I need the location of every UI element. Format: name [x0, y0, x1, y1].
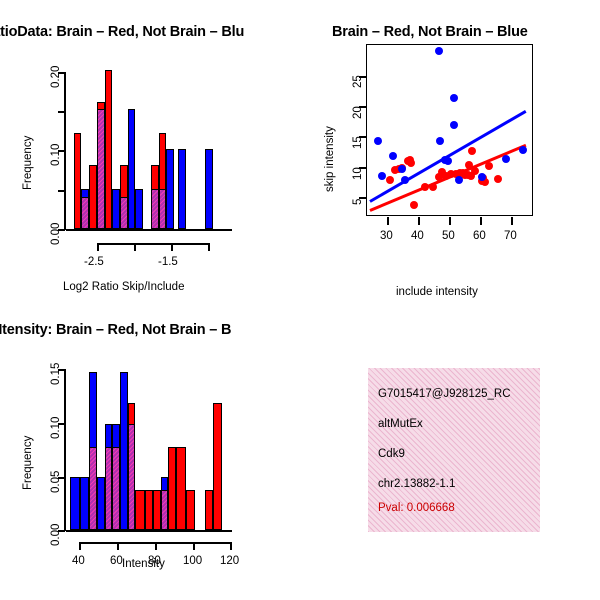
- scatter-point-blue: [389, 152, 397, 160]
- info-pvalue: Pval: 0.006668: [378, 502, 455, 514]
- histogram-bar-red: [74, 133, 82, 229]
- scatter-point-red: [485, 162, 493, 170]
- info-event-type: altMutEx: [378, 418, 423, 430]
- scatter-point-blue: [450, 94, 458, 102]
- histogram-bar-blue: [178, 149, 186, 229]
- histogram-bar-red: [176, 447, 186, 530]
- scatter-point-red: [407, 159, 415, 167]
- ratio-ytick-0.05: [58, 190, 65, 192]
- intensity-xticklabel-120: 120: [220, 555, 239, 567]
- scatter-xticklabel-50: 50: [442, 230, 455, 242]
- intensity-xtick-80: [155, 542, 157, 550]
- scatter-point-red: [494, 175, 502, 183]
- intensity-histogram-title: ne Itensity: Brain – Red, Not Brain – B: [0, 322, 231, 338]
- histogram-bar-red: [186, 490, 196, 530]
- intensity-yticklabel-0.15: 0.15: [50, 363, 62, 385]
- intensity-xticklabel-40: 40: [72, 555, 85, 567]
- ratio-yticklabel-0.00: 0.00: [50, 223, 62, 245]
- scatter-plot-area: [367, 45, 532, 215]
- histogram-bar-overlap: [128, 424, 136, 530]
- histogram-bar-blue: [135, 189, 143, 229]
- histogram-bar-blue: [80, 477, 90, 530]
- intensity-xticklabel-60: 60: [110, 555, 123, 567]
- scatter-point-red: [468, 147, 476, 155]
- scatter-point-blue: [374, 137, 382, 145]
- histogram-bar-red: [168, 447, 176, 530]
- ratio-histogram-title: RatioData: Brain – Red, Not Brain – Blu: [0, 24, 244, 40]
- ratio-xtick-minus2.5: [97, 243, 99, 251]
- histogram-bar-red: [135, 490, 145, 530]
- scatter-point-blue: [519, 146, 527, 154]
- scatter-xtick-70: [511, 217, 513, 225]
- histogram-bar-blue: [70, 477, 80, 530]
- scatter-point-blue: [436, 137, 444, 145]
- scatter-point-blue: [455, 176, 463, 184]
- histogram-bar-red: [213, 403, 223, 530]
- scatter-xticklabel-60: 60: [473, 230, 486, 242]
- histogram-bar-blue: [128, 109, 136, 229]
- info-locus: chr2.13882-1.1: [378, 478, 455, 490]
- intensity-yticklabel-0.00: 0.00: [50, 524, 62, 546]
- scatter-yticklabel-10: 10: [352, 167, 364, 180]
- ratio-xtick-minus1.0: [208, 243, 210, 251]
- ratio-baseline: [66, 229, 232, 231]
- scatter-xlabel: include intensity: [396, 286, 478, 298]
- scatter-point-blue: [450, 121, 458, 129]
- histogram-bar-overlap: [105, 447, 113, 530]
- scatter-point-blue: [478, 173, 486, 181]
- scatter-xticklabel-70: 70: [504, 230, 517, 242]
- intensity-xtick-40: [79, 542, 81, 550]
- intensity-histogram-ylabel: Frequency: [22, 436, 34, 490]
- scatter-point-blue: [398, 165, 406, 173]
- histogram-bar-red: [153, 490, 161, 530]
- histogram-bar-overlap: [97, 109, 105, 229]
- panel-ratio-histogram: RatioData: Brain – Red, Not Brain – Blu …: [0, 0, 300, 310]
- intensity-xtick-100: [193, 542, 195, 550]
- histogram-bar-overlap: [81, 197, 89, 229]
- panel-intensity-histogram: ne Itensity: Brain – Red, Not Brain – B …: [0, 310, 300, 600]
- ratio-xtick-minus2.0: [134, 243, 136, 251]
- scatter-xticklabel-40: 40: [411, 230, 424, 242]
- histogram-bar-blue: [112, 189, 120, 229]
- intensity-xticklabel-100: 100: [183, 555, 202, 567]
- scatter-title: Brain – Red, Not Brain – Blue: [332, 24, 528, 40]
- scatter-yticklabel-25: 25: [352, 75, 364, 88]
- histogram-bar-blue: [120, 372, 128, 530]
- info-probeset-id: G7015417@J928125_RC: [378, 388, 511, 400]
- annotation-info-box: G7015417@J928125_RC altMutEx Cdk9 chr2.1…: [368, 368, 540, 532]
- intensity-yticklabel-0.05: 0.05: [50, 471, 62, 493]
- scatter-xtick-50: [449, 217, 451, 225]
- ratio-xticklabel-minus2.5: -2.5: [84, 256, 104, 268]
- histogram-bar-blue: [166, 149, 174, 229]
- histogram-bar-red: [145, 490, 153, 530]
- intensity-yticklabel-0.10: 0.10: [50, 417, 62, 439]
- ratio-yticklabel-0.10: 0.10: [50, 144, 62, 166]
- scatter-point-blue: [502, 155, 510, 163]
- scatter-point-red: [386, 176, 394, 184]
- scatter-xtick-40: [418, 217, 420, 225]
- intensity-xticklabel-80: 80: [148, 555, 161, 567]
- scatter-point-blue: [444, 157, 452, 165]
- scatter-xticklabel-30: 30: [380, 230, 393, 242]
- info-gene-symbol: Cdk9: [378, 448, 405, 460]
- ratio-ytick-0.15: [58, 111, 65, 113]
- histogram-bar-red: [89, 165, 97, 229]
- intensity-histogram-bars: [66, 365, 232, 530]
- ratio-xaxis-line: [97, 243, 209, 245]
- histogram-bar-overlap: [89, 447, 97, 530]
- scatter-ylabel: skip intensity: [324, 126, 336, 192]
- histogram-bar-red: [105, 70, 113, 229]
- intensity-xtick-60: [117, 542, 119, 550]
- histogram-bar-overlap: [161, 490, 169, 530]
- histogram-bar-overlap: [120, 197, 128, 229]
- scatter-yticklabel-15: 15: [352, 136, 364, 149]
- scatter-xtick-60: [480, 217, 482, 225]
- histogram-bar-red: [205, 490, 213, 530]
- scatter-point-red: [429, 183, 437, 191]
- intensity-baseline: [66, 530, 232, 532]
- histogram-bar-overlap: [112, 447, 120, 530]
- histogram-bar-overlap: [151, 189, 159, 229]
- ratio-xtick-minus1.5: [171, 243, 173, 251]
- ratio-histogram-bars: [66, 66, 232, 229]
- scatter-yticklabel-5: 5: [352, 199, 364, 205]
- ratio-histogram-ylabel: Frequency: [22, 136, 34, 190]
- ratio-histogram-xlabel: Log2 Ratio Skip/Include: [63, 281, 184, 293]
- scatter-yticklabel-20: 20: [352, 106, 364, 119]
- histogram-bar-blue: [205, 149, 213, 229]
- ratio-yticklabel-0.20: 0.20: [50, 66, 62, 88]
- histogram-bar-blue: [97, 477, 105, 530]
- scatter-point-red: [410, 201, 418, 209]
- ratio-xticklabel-minus1.5: -1.5: [158, 256, 178, 268]
- scatter-point-blue: [378, 172, 386, 180]
- scatter-point-blue: [435, 47, 443, 55]
- panel-intensity-scatter: Brain – Red, Not Brain – Blue skip inten…: [300, 0, 600, 310]
- histogram-bar-overlap: [159, 189, 167, 229]
- scatter-xtick-30: [387, 217, 389, 225]
- intensity-xtick-120: [230, 542, 232, 550]
- scatter-point-blue: [401, 176, 409, 184]
